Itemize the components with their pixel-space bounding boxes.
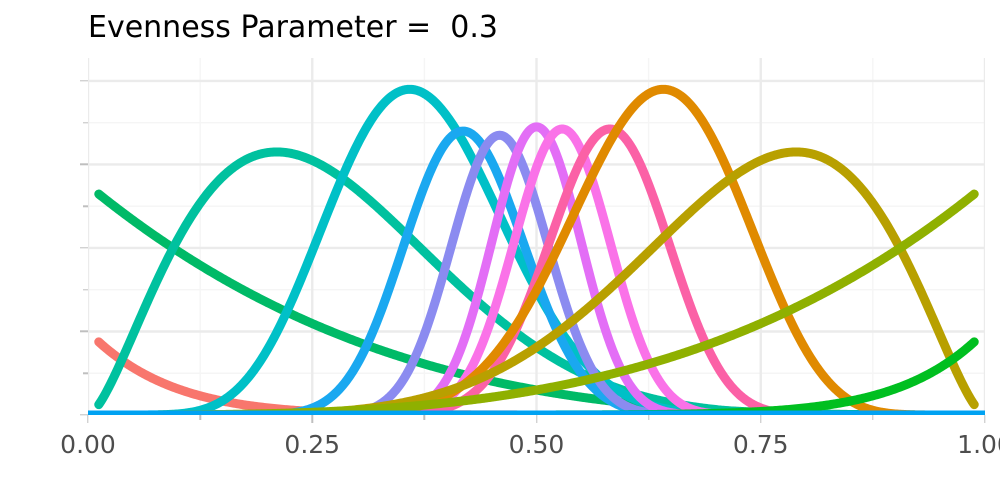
- x-tick-label: 0.75: [733, 430, 789, 460]
- y-tick-mark-minor: [83, 122, 88, 123]
- x-tick-mark: [87, 415, 88, 423]
- x-tick-mark-minor: [424, 415, 425, 420]
- page-title: Evenness Parameter = 0.3: [88, 8, 498, 48]
- plot-area: [88, 58, 985, 415]
- x-tick-mark-minor: [199, 415, 200, 420]
- x-tick-mark-minor: [648, 415, 649, 420]
- x-tick-label: 1.00: [957, 430, 1000, 460]
- x-tick-label: 0.25: [284, 430, 340, 460]
- x-tick-mark-minor: [872, 415, 873, 420]
- x-tick-mark: [312, 415, 313, 423]
- plot-svg: [88, 58, 985, 415]
- x-tick-mark: [984, 415, 985, 423]
- x-tick-mark: [760, 415, 761, 423]
- x-tick-label: 0.00: [60, 430, 116, 460]
- y-tick-mark: [80, 331, 88, 332]
- x-tick-mark: [536, 415, 537, 423]
- y-tick-mark-minor: [83, 373, 88, 374]
- y-tick-mark-minor: [83, 289, 88, 290]
- x-tick-label: 0.50: [509, 430, 565, 460]
- chart-figure: Evenness Parameter = 0.3 0.00.20.40.60.8…: [0, 0, 1000, 500]
- grid-major: [88, 58, 985, 415]
- y-tick-mark: [80, 247, 88, 248]
- y-tick-mark: [80, 80, 88, 81]
- y-tick-mark-minor: [83, 206, 88, 207]
- y-tick-mark: [80, 164, 88, 165]
